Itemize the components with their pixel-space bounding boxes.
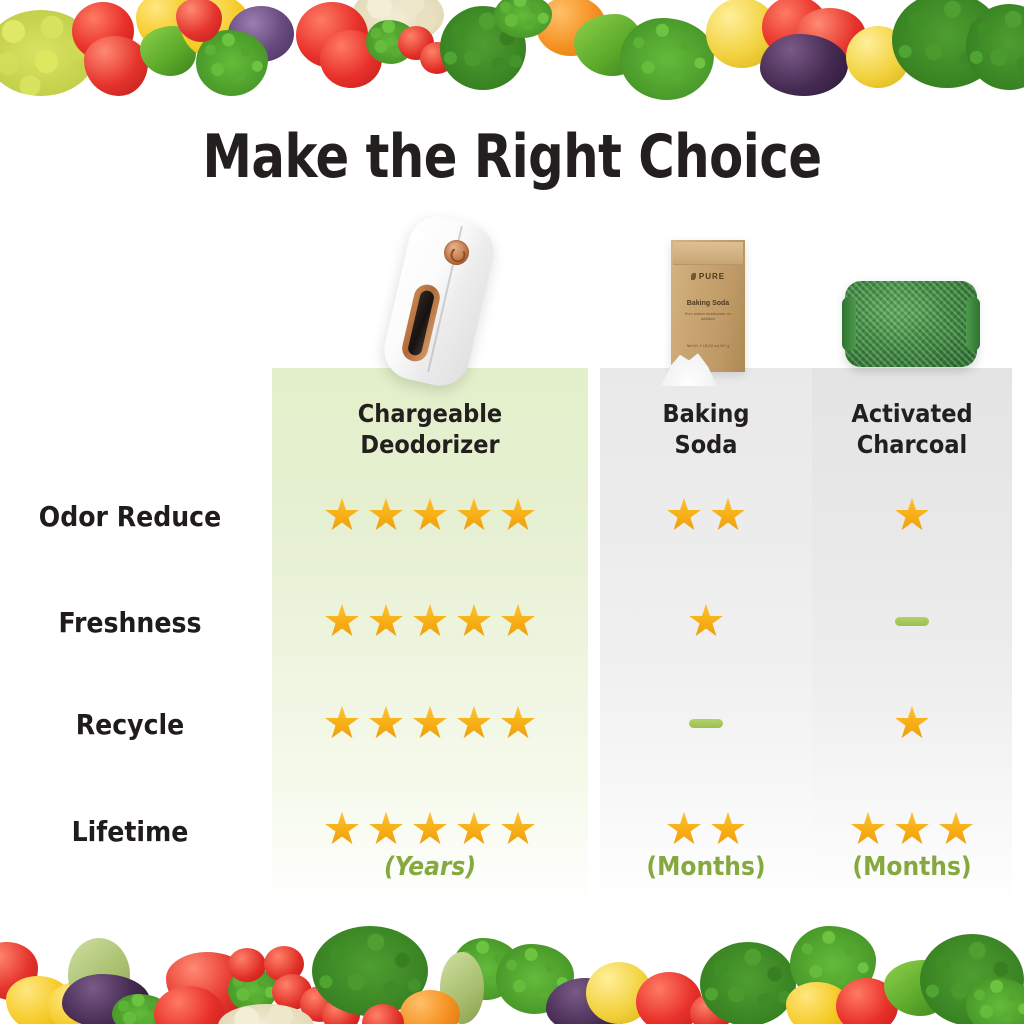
- chargeable-deodorizer-image: [378, 218, 500, 386]
- infographic-page: Make the Right Choice PURE Baking Soda P…: [0, 0, 1024, 1024]
- comparison-table: PURE Baking Soda Pure sodium bicarbonate…: [0, 0, 1024, 1024]
- rating-cell: [812, 806, 1012, 852]
- star-icon: [324, 497, 360, 533]
- rating-cell: [272, 598, 588, 644]
- star-icon: [500, 603, 536, 639]
- star-icon: [500, 705, 536, 741]
- broccoli-image: [700, 942, 796, 1024]
- rating-cell: [272, 492, 588, 538]
- star-icon: [368, 811, 404, 847]
- star-icon: [368, 705, 404, 741]
- baking-soda-net-weight: Net Wt. 2 LB (32 oz) 907 g: [671, 344, 745, 348]
- row-label-lifetime: Lifetime: [0, 815, 260, 848]
- star-icon: [894, 811, 930, 847]
- column-header-line2: Charcoal: [812, 429, 1012, 460]
- column-header-activated-charcoal: Activated Charcoal: [812, 398, 1012, 460]
- star-icon: [412, 705, 448, 741]
- star-icon: [456, 603, 492, 639]
- baking-soda-brand: PURE: [671, 272, 745, 281]
- star-icon: [412, 811, 448, 847]
- column-header-baking-soda: Baking Soda: [600, 398, 812, 460]
- star-icon: [456, 497, 492, 533]
- star-icon: [688, 603, 724, 639]
- star-icon: [324, 705, 360, 741]
- cherry-tomato-image: [228, 948, 266, 982]
- rating-cell: [272, 806, 588, 852]
- rating-cell: [812, 700, 1012, 746]
- star-icon: [412, 603, 448, 639]
- rating-cell: [600, 700, 812, 746]
- baking-soda-image: PURE Baking Soda Pure sodium bicarbonate…: [661, 240, 753, 386]
- star-icon: [456, 811, 492, 847]
- food-border-bottom: [0, 920, 1024, 1024]
- rating-cell: [812, 598, 1012, 644]
- star-icon: [850, 811, 886, 847]
- rating-cell: [812, 492, 1012, 538]
- column-header-line2: Soda: [600, 429, 812, 460]
- column-header-line1: Baking: [600, 398, 812, 429]
- charcoal-mesh-bag: [845, 281, 977, 367]
- column-header-line1: Activated: [812, 398, 1012, 429]
- column-header-line1: Chargeable: [272, 398, 588, 429]
- star-icon: [500, 811, 536, 847]
- star-icon: [894, 497, 930, 533]
- activated-charcoal-image: [845, 281, 977, 367]
- rating-cell: [600, 492, 812, 538]
- rating-cell: [272, 700, 588, 746]
- star-icon: [666, 497, 702, 533]
- star-icon: [710, 497, 746, 533]
- herb-image: [966, 978, 1024, 1024]
- baking-soda-bag-fold: [673, 242, 743, 265]
- star-icon: [500, 497, 536, 533]
- star-icon: [368, 497, 404, 533]
- star-icon: [412, 497, 448, 533]
- baking-soda-product-name: Baking Soda: [671, 300, 745, 307]
- no-rating-dash-icon: [895, 617, 929, 626]
- unit-caption-activated-charcoal: (Months): [812, 852, 1012, 882]
- star-icon: [456, 705, 492, 741]
- star-icon: [666, 811, 702, 847]
- row-label-freshness: Freshness: [0, 606, 260, 639]
- column-header-chargeable-deodorizer: Chargeable Deodorizer: [272, 398, 588, 460]
- star-icon: [938, 811, 974, 847]
- row-label-odor-reduce: Odor Reduce: [0, 500, 260, 533]
- no-rating-dash-icon: [689, 719, 723, 728]
- star-icon: [368, 603, 404, 639]
- baking-soda-fineprint: Pure sodium bicarbonate, no additives: [679, 312, 737, 321]
- star-icon: [324, 603, 360, 639]
- leaf-icon: [691, 273, 696, 280]
- rating-cell: [600, 806, 812, 852]
- star-icon: [710, 811, 746, 847]
- row-label-recycle: Recycle: [0, 708, 260, 741]
- star-icon: [894, 705, 930, 741]
- unit-caption-chargeable-deodorizer: (Years): [272, 852, 588, 882]
- star-icon: [324, 811, 360, 847]
- baking-soda-brand-text: PURE: [699, 272, 725, 281]
- rating-cell: [600, 598, 812, 644]
- column-header-line2: Deodorizer: [272, 429, 588, 460]
- unit-caption-baking-soda: (Months): [600, 852, 812, 882]
